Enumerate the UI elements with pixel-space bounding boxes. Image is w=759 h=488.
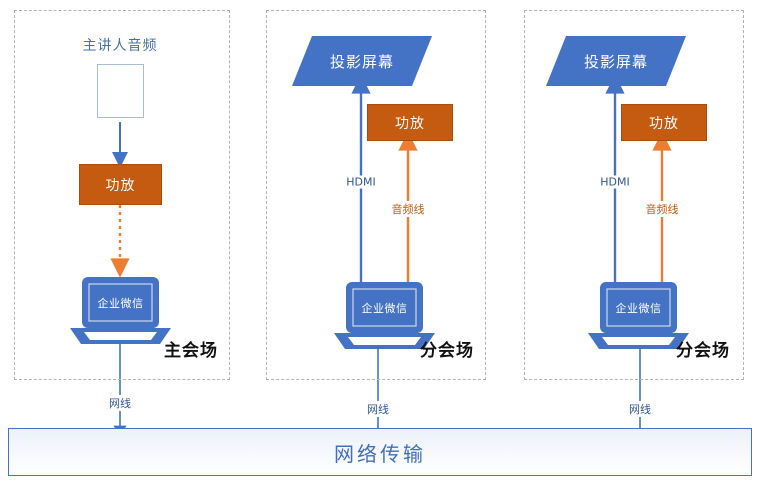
amplifier-box-right: 功放	[621, 104, 707, 141]
hdmi-label-right: HDMI	[598, 176, 631, 189]
panel-label-branch-venue-2: 分会场	[676, 336, 730, 361]
diagram-canvas: 主会场 分会场 分会场 主讲人音频 功放 企业微信 网线 投影屏幕 功放 企业微…	[0, 0, 759, 488]
amplifier-label-left: 功放	[106, 175, 136, 195]
projection-screen-label-right: 投影屏幕	[546, 36, 686, 86]
laptop-label-left: 企业微信	[82, 287, 159, 319]
panel-label-branch-venue-1: 分会场	[420, 336, 474, 361]
audio-cable-label-right: 音频线	[644, 201, 681, 217]
projection-screen-right: 投影屏幕	[546, 36, 686, 86]
amplifier-box-left: 功放	[79, 164, 162, 205]
projection-screen-label-mid: 投影屏幕	[292, 36, 432, 86]
amplifier-label-right: 功放	[649, 113, 679, 133]
network-cable-label-right: 网线	[627, 401, 653, 417]
laptop-label-mid: 企业微信	[346, 292, 423, 324]
network-transmission-label: 网络传输	[334, 438, 426, 467]
laptop-left: 企业微信	[82, 277, 159, 328]
panel-label-main-venue: 主会场	[164, 336, 218, 361]
laptop-label-right: 企业微信	[600, 292, 677, 324]
audio-cable-label-mid: 音频线	[390, 201, 427, 217]
network-cable-label-mid: 网线	[365, 401, 391, 417]
network-cable-label-left: 网线	[107, 395, 133, 411]
projection-screen-mid: 投影屏幕	[292, 36, 432, 86]
hdmi-label-mid: HDMI	[344, 176, 377, 189]
laptop-mid: 企业微信	[346, 282, 423, 333]
amplifier-label-mid: 功放	[395, 113, 425, 133]
laptop-right: 企业微信	[600, 282, 677, 333]
amplifier-box-mid: 功放	[367, 104, 453, 141]
microphone-box	[97, 64, 144, 118]
speaker-audio-heading: 主讲人音频	[83, 35, 158, 55]
network-transmission-bar: 网络传输	[8, 428, 752, 476]
